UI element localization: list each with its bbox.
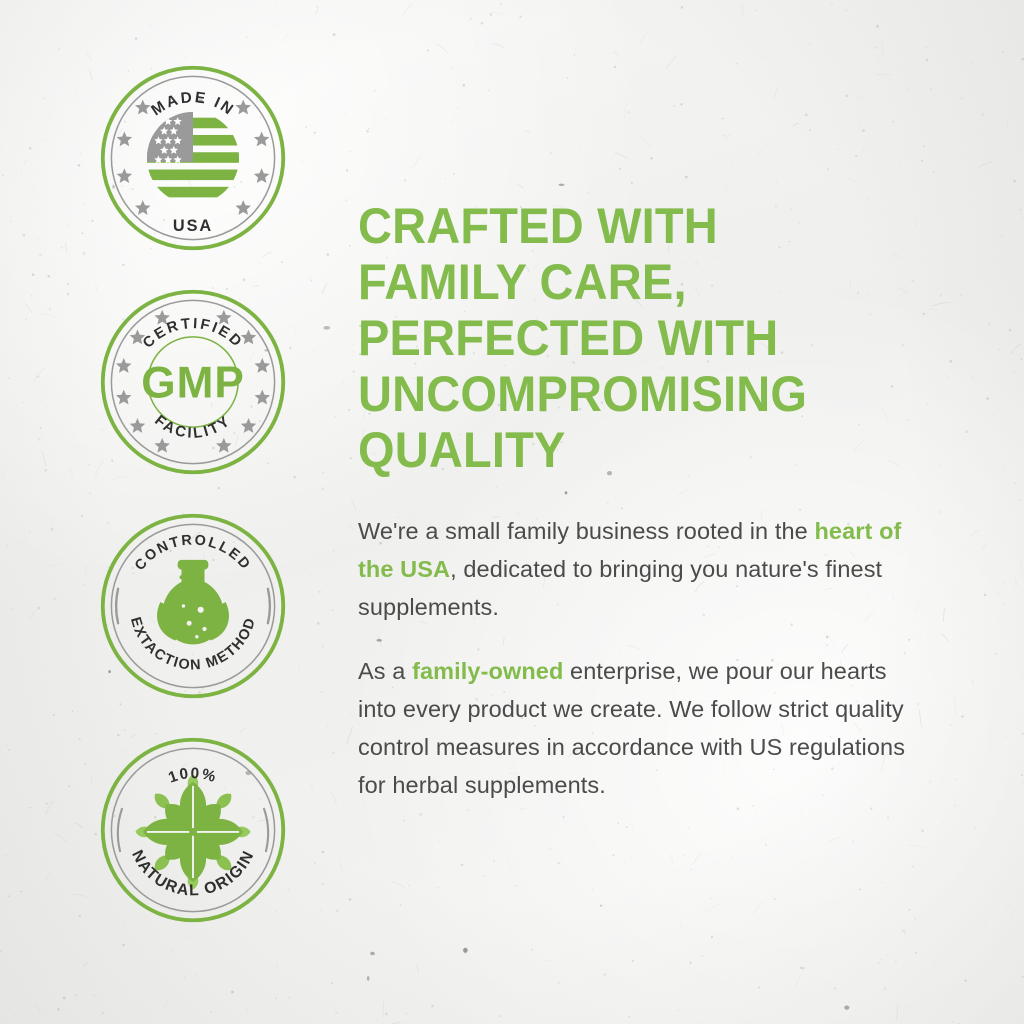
certification-badge-column: MADE IN USA CERTIFIED GMP FACILITY xyxy=(88,62,298,926)
badge-star-icon xyxy=(154,438,170,453)
badge-star-icon xyxy=(135,100,151,115)
badge-bottom-label: FACILITY xyxy=(151,413,234,442)
promo-panel: MADE IN USA CERTIFIED GMP FACILITY xyxy=(0,0,1024,1024)
svg-text:CERTIFIED: CERTIFIED xyxy=(140,316,246,352)
copy-column: CRAFTED WITH FAMILY CARE, PERFECTED WITH… xyxy=(358,198,930,804)
badge-star-icon xyxy=(117,131,133,146)
badge-top-label: MADE IN xyxy=(148,89,237,119)
badge-star-icon xyxy=(216,438,232,453)
paragraph-2: As a family-owned enterprise, we pour ou… xyxy=(358,652,930,804)
badge-star-icon xyxy=(254,131,270,146)
badge-center-label: GMP xyxy=(141,358,244,407)
paragraph-1: We're a small family business rooted in … xyxy=(358,512,930,626)
badge-gmp-certified: CERTIFIED GMP FACILITY xyxy=(97,286,289,478)
paragraph-1-before: We're a small family business rooted in … xyxy=(358,518,814,544)
badge-star-icon xyxy=(254,358,270,373)
page-headline: CRAFTED WITH FAMILY CARE, PERFECTED WITH… xyxy=(358,198,896,478)
flask-leaves-icon xyxy=(157,560,229,644)
badge-star-icon xyxy=(135,200,151,215)
paragraph-2-highlight: family-owned xyxy=(412,658,563,684)
badge-bottom-label: USA xyxy=(173,217,213,235)
badge-star-icon xyxy=(117,168,133,183)
badge-natural-origin: 100% NATURAL ORIGIN xyxy=(97,734,289,926)
svg-text:MADE IN: MADE IN xyxy=(148,89,237,119)
badge-star-icon xyxy=(254,390,270,405)
badge-star-icon xyxy=(116,390,132,405)
badge-star-icon xyxy=(235,200,251,215)
badge-star-icon xyxy=(116,358,132,373)
svg-text:FACILITY: FACILITY xyxy=(151,413,234,442)
badge-star-icon xyxy=(235,100,251,115)
badge-controlled-extraction: CONTROLLED EXTACTION METHOD xyxy=(97,510,289,702)
paragraph-2-before: As a xyxy=(358,658,412,684)
badge-star-icon xyxy=(241,418,257,433)
usa-flag-circle-icon xyxy=(147,108,239,204)
badge-star-icon xyxy=(130,418,146,433)
badge-star-icon xyxy=(254,168,270,183)
badge-made-in-usa: MADE IN USA xyxy=(97,62,289,254)
badge-top-label: CERTIFIED xyxy=(140,316,246,352)
